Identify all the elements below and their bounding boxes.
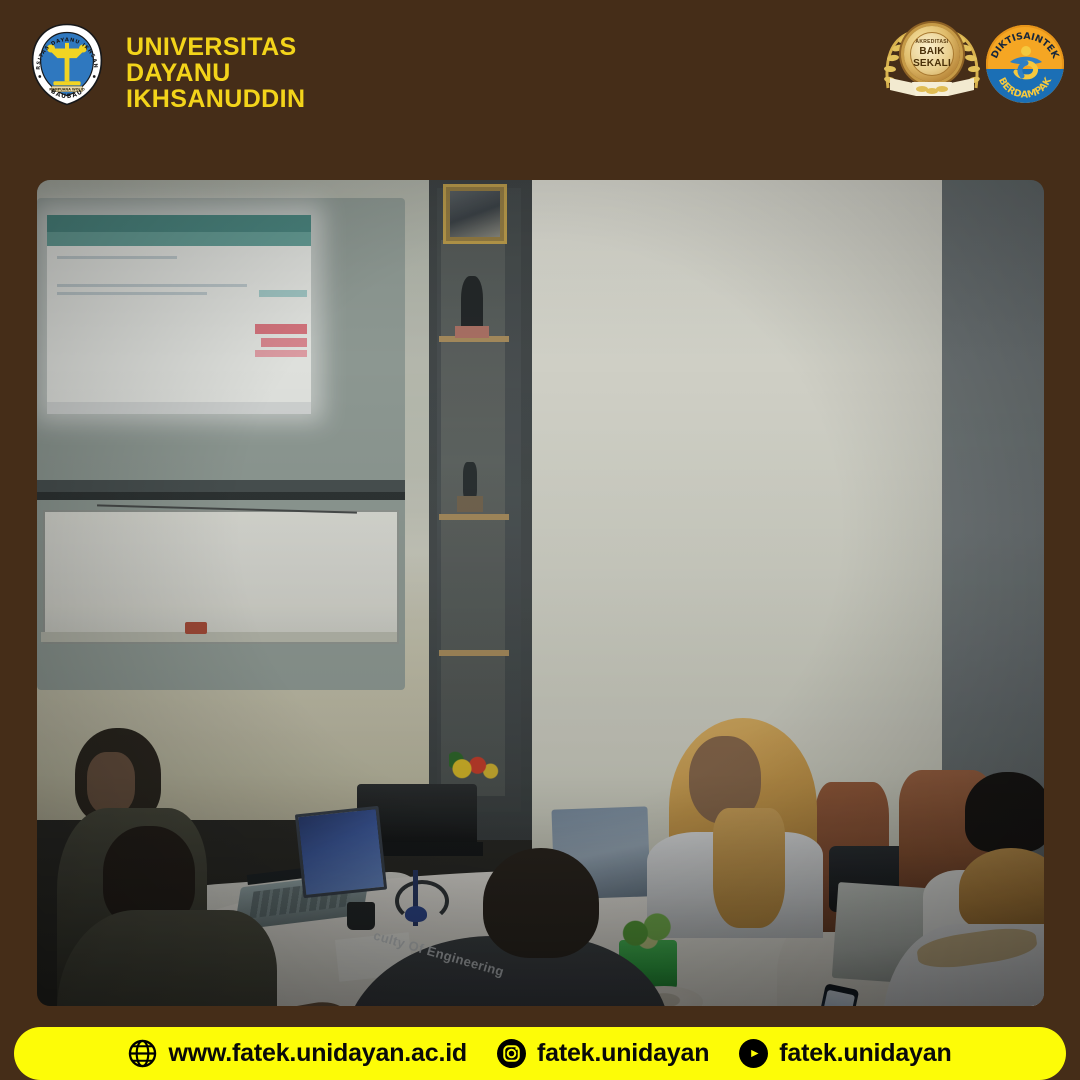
medal-line-3: SEKALI <box>913 59 951 69</box>
youtube-label: fatek.unidayan <box>779 1039 951 1068</box>
akreditasi-medal: AKREDITASI BAIK SEKALI <box>882 18 982 110</box>
footer-instagram[interactable]: fatek.unidayan <box>497 1039 709 1068</box>
medal-line-1: AKREDITASI <box>915 40 948 45</box>
meeting-photo: culty Of Engineering <box>37 180 1044 1006</box>
page-title: UNIVERSITAS DAYANU IKHSANUDDIN <box>126 34 305 112</box>
photo-vignette <box>37 180 1044 1006</box>
footer-bar: www.fatek.unidayan.ac.id fatek.unidayan … <box>14 1027 1066 1080</box>
footer-website[interactable]: www.fatek.unidayan.ac.id <box>128 1039 467 1068</box>
globe-icon <box>128 1039 157 1068</box>
title-line-2: DAYANU <box>126 60 305 86</box>
page-header: RAMPUANA WOLIO UNIVERSITAS DAYANU IKHSAN… <box>0 0 1080 165</box>
badge-group: AKREDITASI BAIK SEKALI <box>882 18 1064 110</box>
instagram-label: fatek.unidayan <box>537 1039 709 1068</box>
instagram-icon <box>497 1039 526 1068</box>
youtube-icon <box>739 1039 768 1068</box>
footer-youtube[interactable]: fatek.unidayan <box>739 1039 951 1068</box>
diktisaintek-badge: DIKTISAINTEK BERDAMPAK <box>986 25 1064 103</box>
title-line-1: UNIVERSITAS <box>126 34 305 60</box>
dikti-person-icon <box>1004 45 1048 85</box>
medal-ribbon-icon <box>888 74 976 100</box>
title-line-3: IKHSANUDDIN <box>126 86 305 112</box>
medal-line-2: BAIK <box>919 47 944 57</box>
website-label: www.fatek.unidayan.ac.id <box>168 1039 467 1068</box>
university-logo: RAMPUANA WOLIO UNIVERSITAS DAYANU IKHSAN… <box>27 22 107 107</box>
